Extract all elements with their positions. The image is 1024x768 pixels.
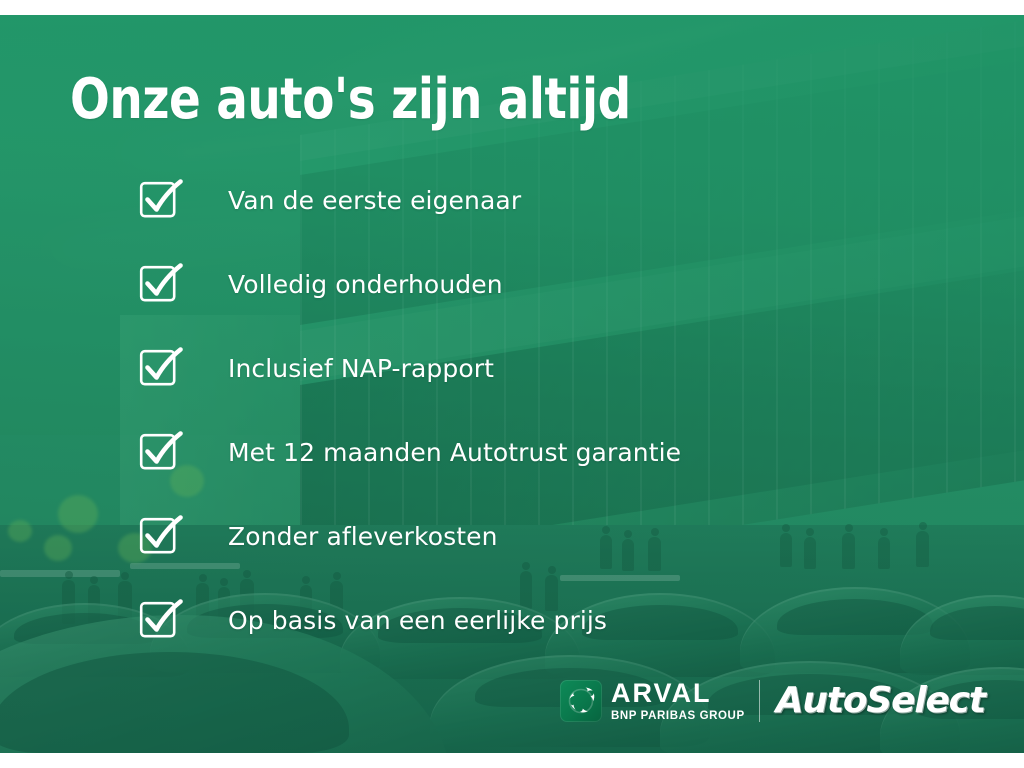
bnp-paribas-stars-icon: [560, 680, 602, 722]
checkbox-checked-icon: [138, 514, 182, 558]
list-item-label: Inclusief NAP-rapport: [228, 354, 494, 383]
list-item: Met 12 maanden Autotrust garantie: [138, 410, 998, 494]
list-item: Zonder afleverkosten: [138, 494, 998, 578]
list-item: Volledig onderhouden: [138, 242, 998, 326]
top-letterbox-band: [0, 0, 1024, 15]
benefits-list: Van de eerste eigenaar Volledig onderhou…: [138, 158, 998, 662]
arval-logo: ARVAL BNP PARIBAS GROUP: [560, 678, 745, 724]
checkbox-checked-icon: [138, 262, 182, 306]
page-title: Onze auto's zijn altijd: [70, 71, 631, 130]
arval-wordmark: ARVAL BNP PARIBAS GROUP: [611, 680, 745, 723]
list-item: Inclusief NAP-rapport: [138, 326, 998, 410]
arval-tagline: BNP PARIBAS GROUP: [611, 711, 745, 723]
list-item-label: Van de eerste eigenaar: [228, 186, 521, 215]
promo-slide: Onze auto's zijn altijd Van de eerste ei…: [0, 0, 1024, 768]
list-item-label: Met 12 maanden Autotrust garantie: [228, 438, 681, 467]
list-item-label: Zonder afleverkosten: [228, 522, 498, 551]
checkbox-checked-icon: [138, 178, 182, 222]
footer-logos: ARVAL BNP PARIBAS GROUP AutoSelect: [560, 670, 1020, 732]
checkbox-checked-icon: [138, 430, 182, 474]
checkbox-checked-icon: [138, 598, 182, 642]
list-item: Op basis van een eerlijke prijs: [138, 578, 998, 662]
list-item-label: Volledig onderhouden: [228, 270, 503, 299]
autoselect-logo: AutoSelect: [776, 683, 985, 719]
list-item-label: Op basis van een eerlijke prijs: [228, 606, 607, 635]
logo-divider: [759, 680, 760, 722]
checkbox-checked-icon: [138, 346, 182, 390]
bottom-letterbox-band: [0, 753, 1024, 768]
arval-name: ARVAL: [611, 680, 745, 707]
list-item: Van de eerste eigenaar: [138, 158, 998, 242]
